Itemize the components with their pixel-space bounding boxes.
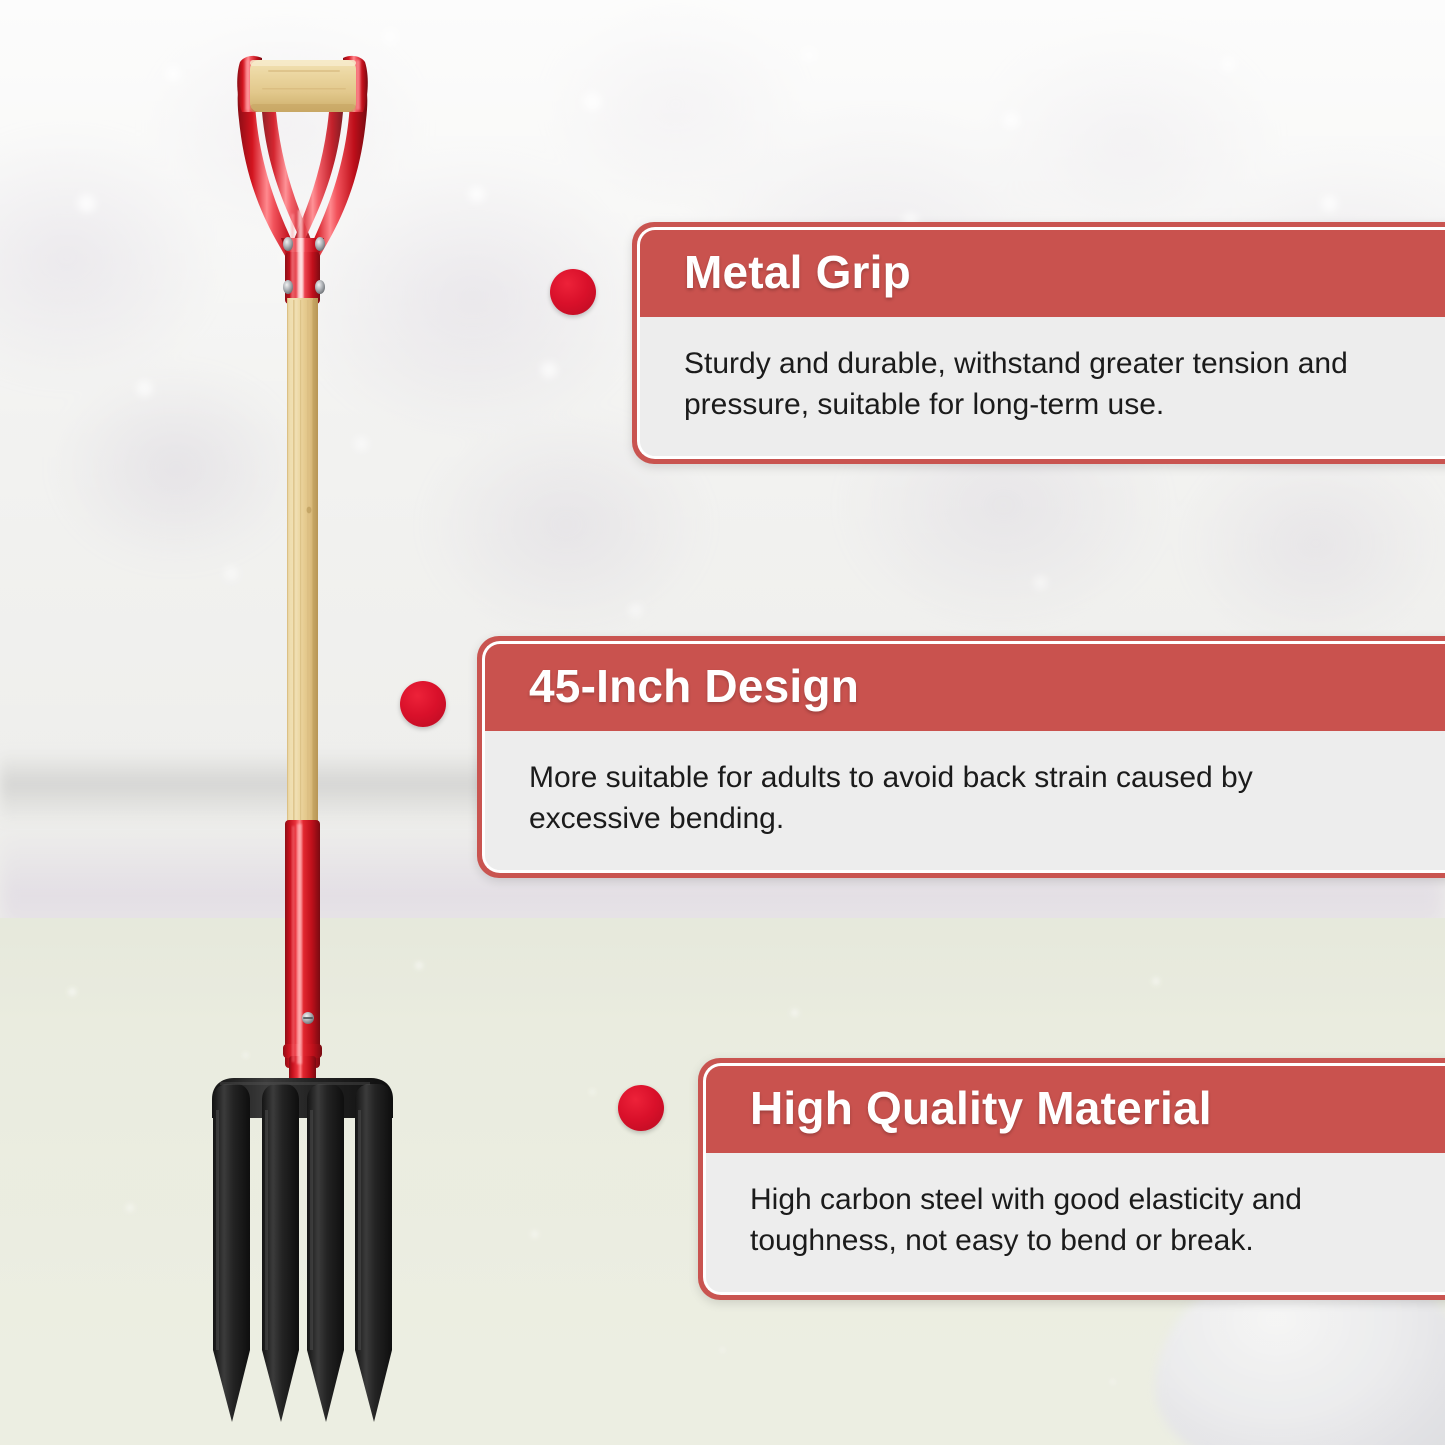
bullet-dot-metal-grip <box>550 269 596 315</box>
shaft-wood <box>287 298 318 826</box>
feature-card-header: Metal Grip <box>640 230 1445 317</box>
feature-card-metal-grip: Metal Grip Sturdy and durable, withstand… <box>632 222 1445 464</box>
feature-card-high-quality-material: High Quality Material High carbon steel … <box>698 1058 1445 1300</box>
feature-card-description: Sturdy and durable, withstand greater te… <box>684 343 1384 426</box>
infographic-stage: Metal Grip Sturdy and durable, withstand… <box>0 0 1445 1445</box>
feature-card-body: More suitable for adults to avoid back s… <box>485 731 1445 870</box>
handle-wood-crossbar <box>250 60 356 112</box>
socket-red <box>283 820 322 1086</box>
handle-rivet <box>283 237 293 251</box>
feature-card-inner: 45-Inch Design More suitable for adults … <box>482 641 1445 873</box>
feature-card-description: More suitable for adults to avoid back s… <box>529 757 1359 840</box>
feature-card-title: 45-Inch Design <box>529 662 1445 711</box>
handle-rivet <box>283 280 293 294</box>
feature-card-body: Sturdy and durable, withstand greater te… <box>640 317 1445 456</box>
feature-card-45-inch-design: 45-Inch Design More suitable for adults … <box>477 636 1445 878</box>
bullet-dot-high-quality-material <box>618 1085 664 1131</box>
feature-card-title: Metal Grip <box>684 248 1445 297</box>
bullet-dot-45-inch-design <box>400 681 446 727</box>
fork-head-tines <box>212 1078 393 1422</box>
feature-card-inner: Metal Grip Sturdy and durable, withstand… <box>637 227 1445 459</box>
feature-card-title: High Quality Material <box>750 1084 1445 1133</box>
feature-card-inner: High Quality Material High carbon steel … <box>703 1063 1445 1295</box>
feature-card-header: High Quality Material <box>706 1066 1445 1153</box>
feature-card-header: 45-Inch Design <box>485 644 1445 731</box>
handle-rivet <box>315 280 325 294</box>
feature-card-description: High carbon steel with good elasticity a… <box>750 1179 1390 1262</box>
feature-card-body: High carbon steel with good elasticity a… <box>706 1153 1445 1292</box>
handle-rivet <box>315 237 325 251</box>
